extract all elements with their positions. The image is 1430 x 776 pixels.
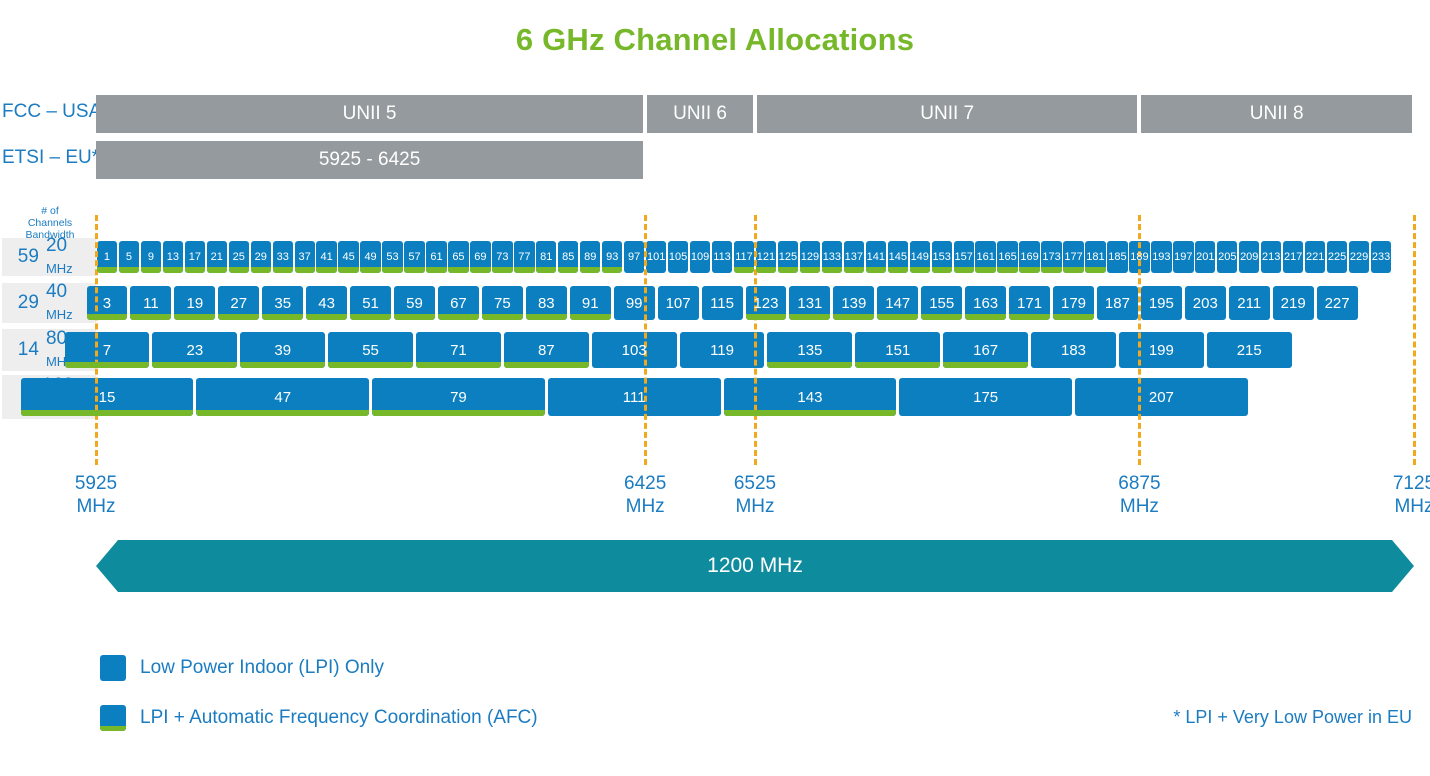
etsi-band-label: 5925 - 6425 xyxy=(319,149,420,171)
channel-block[interactable]: 51 xyxy=(350,286,391,320)
frequency-label: 6525MHz xyxy=(700,472,810,518)
channel-number: 23 xyxy=(186,343,203,358)
channel-block[interactable]: 175 xyxy=(899,378,1072,416)
bottom-rule xyxy=(0,770,1430,776)
channel-number: 129 xyxy=(801,252,819,263)
channel-count: 29 xyxy=(2,292,46,314)
channel-block[interactable]: 229 xyxy=(1349,241,1369,273)
unii-band-label: UNII 6 xyxy=(673,103,727,125)
channel-number: 167 xyxy=(973,343,998,358)
channel-block[interactable]: 35 xyxy=(262,286,303,320)
channel-block[interactable]: 79 xyxy=(372,378,545,416)
channel-number: 117 xyxy=(735,252,753,263)
channel-number: 207 xyxy=(1149,390,1174,405)
channel-number: 185 xyxy=(1108,252,1126,263)
channel-block[interactable]: 141 xyxy=(866,241,886,273)
total-span-label: 1200 MHz xyxy=(707,554,803,578)
channel-number: 161 xyxy=(976,252,994,263)
channel-block[interactable]: 33 xyxy=(273,241,293,273)
channel-block[interactable]: 107 xyxy=(658,286,699,320)
channel-block[interactable]: 29 xyxy=(251,241,271,273)
channel-block[interactable]: 167 xyxy=(943,332,1028,368)
channel-number: 169 xyxy=(1020,252,1038,263)
channel-number: 45 xyxy=(342,252,354,263)
channel-block[interactable]: 133 xyxy=(822,241,842,273)
channel-block[interactable]: 105 xyxy=(668,241,688,273)
channel-number: 209 xyxy=(1240,252,1258,263)
channel-number: 29 xyxy=(255,252,267,263)
channel-number: 37 xyxy=(299,252,311,263)
channel-number: 27 xyxy=(230,296,247,311)
channel-number: 79 xyxy=(450,390,467,405)
channel-block[interactable]: 117 xyxy=(734,241,754,273)
channel-number: 211 xyxy=(1237,296,1261,311)
col-head-line1: # of xyxy=(2,205,98,217)
channel-number: 221 xyxy=(1306,252,1324,263)
frequency-gridline xyxy=(95,215,101,465)
channel-number: 89 xyxy=(584,252,596,263)
channel-number: 57 xyxy=(408,252,420,263)
channel-number: 201 xyxy=(1196,252,1214,263)
channel-block[interactable]: 123 xyxy=(746,286,787,320)
channel-block[interactable]: 21 xyxy=(207,241,227,273)
channel-number: 19 xyxy=(186,296,203,311)
channel-number: 9 xyxy=(148,252,154,263)
channel-block[interactable]: 13 xyxy=(163,241,183,273)
legend-swatch-afc xyxy=(100,705,126,731)
channel-number: 83 xyxy=(538,296,555,311)
channel-block[interactable]: 207 xyxy=(1075,378,1248,416)
channel-number: 229 xyxy=(1350,252,1368,263)
channel-block[interactable]: 3 xyxy=(87,286,128,320)
channel-number: 171 xyxy=(1017,296,1042,311)
channel-number: 5 xyxy=(126,252,132,263)
channel-number: 147 xyxy=(885,296,910,311)
channel-block[interactable]: 37 xyxy=(295,241,315,273)
channel-number: 151 xyxy=(885,343,910,358)
channel-block[interactable]: 179 xyxy=(1053,286,1094,320)
channel-block[interactable]: 59 xyxy=(394,286,435,320)
channel-block[interactable]: 19 xyxy=(174,286,215,320)
channel-block[interactable]: 75 xyxy=(482,286,523,320)
frequency-gridline xyxy=(1138,215,1144,465)
channel-number: 107 xyxy=(666,296,691,311)
channel-number: 131 xyxy=(797,296,822,311)
channel-block[interactable]: 201 xyxy=(1195,241,1215,273)
frequency-unit: MHz xyxy=(41,495,151,518)
unii-band-label: UNII 8 xyxy=(1250,103,1304,125)
channel-number: 115 xyxy=(710,296,734,311)
unii-band-unii-5: UNII 5 xyxy=(96,95,643,133)
channel-block[interactable]: 149 xyxy=(910,241,930,273)
channel-number: 91 xyxy=(582,296,599,311)
frequency-unit: MHz xyxy=(1084,495,1194,518)
channel-block[interactable]: 183 xyxy=(1031,332,1116,368)
channel-number: 199 xyxy=(1149,343,1174,358)
channel-block[interactable]: 61 xyxy=(426,241,446,273)
channel-block[interactable]: 97 xyxy=(624,241,644,273)
page-title: 6 GHz Channel Allocations xyxy=(0,22,1430,58)
channel-number: 217 xyxy=(1284,252,1302,263)
frequency-unit: MHz xyxy=(590,495,700,518)
channel-number: 39 xyxy=(274,343,291,358)
channel-bandwidth: 20 MHz xyxy=(46,235,96,279)
legend-swatch-lpi xyxy=(100,655,126,681)
channel-number: 109 xyxy=(691,252,709,263)
channel-block[interactable]: 195 xyxy=(1141,286,1182,320)
channel-number: 67 xyxy=(450,296,467,311)
channel-number: 145 xyxy=(889,252,907,263)
channel-row-80mhz: 1480 MHz72339557187103119135151167183199… xyxy=(0,332,1430,368)
channel-number: 197 xyxy=(1174,252,1192,263)
total-span-arrow: 1200 MHz xyxy=(96,540,1414,592)
channel-block[interactable]: 169 xyxy=(1019,241,1039,273)
channel-number: 13 xyxy=(167,252,179,263)
channel-number: 35 xyxy=(274,296,291,311)
channel-number: 65 xyxy=(452,252,464,263)
frequency-gridline xyxy=(754,215,760,465)
channel-number: 81 xyxy=(540,252,552,263)
channel-block[interactable]: 9 xyxy=(141,241,161,273)
channel-block[interactable]: 233 xyxy=(1371,241,1391,273)
channel-block[interactable]: 55 xyxy=(328,332,413,368)
channel-number: 119 xyxy=(710,343,734,358)
channel-number: 165 xyxy=(998,252,1016,263)
channel-number: 155 xyxy=(929,296,954,311)
channel-block[interactable]: 103 xyxy=(592,332,677,368)
channel-block[interactable]: 27 xyxy=(218,286,259,320)
channel-block[interactable]: 73 xyxy=(492,241,512,273)
channel-number: 105 xyxy=(669,252,687,263)
channel-block[interactable]: 225 xyxy=(1327,241,1347,273)
channel-number: 33 xyxy=(277,252,289,263)
channel-block[interactable]: 187 xyxy=(1097,286,1138,320)
footnote-eu: * LPI + Very Low Power in EU xyxy=(1173,707,1412,728)
row-label-40mhz: 2940 MHz xyxy=(2,283,96,323)
channel-block[interactable]: 113 xyxy=(712,241,732,273)
channel-block[interactable]: 213 xyxy=(1261,241,1281,273)
channel-number: 87 xyxy=(538,343,555,358)
channel-block[interactable]: 119 xyxy=(680,332,765,368)
channel-block[interactable]: 25 xyxy=(229,241,249,273)
frequency-label: 6875MHz xyxy=(1084,472,1194,518)
channel-number: 213 xyxy=(1262,252,1280,263)
channel-row-20mhz: 5920 MHz15913172125293337414549535761656… xyxy=(0,241,1430,273)
channel-number: 61 xyxy=(430,252,442,263)
channel-number: 97 xyxy=(628,252,640,263)
frequency-value: 6425 xyxy=(590,472,700,495)
channel-block[interactable]: 205 xyxy=(1217,241,1237,273)
frequency-gridline xyxy=(644,215,650,465)
frequency-value: 7125 xyxy=(1359,472,1430,495)
channel-block[interactable]: 49 xyxy=(360,241,380,273)
channel-block[interactable]: 67 xyxy=(438,286,479,320)
unii-band-label: UNII 7 xyxy=(920,103,974,125)
channel-block[interactable]: 93 xyxy=(602,241,622,273)
channel-block[interactable]: 155 xyxy=(921,286,962,320)
frequency-label: 5925MHz xyxy=(41,472,151,518)
channel-number: 141 xyxy=(867,252,885,263)
frequency-unit: MHz xyxy=(1359,495,1430,518)
channel-block[interactable]: 209 xyxy=(1239,241,1259,273)
channel-block[interactable]: 91 xyxy=(570,286,611,320)
channel-block[interactable]: 53 xyxy=(382,241,402,273)
unii-band-label: UNII 5 xyxy=(343,103,397,125)
channel-block[interactable]: 143 xyxy=(724,378,897,416)
channel-number: 53 xyxy=(386,252,398,263)
channel-block[interactable]: 111 xyxy=(548,378,721,416)
channel-number: 181 xyxy=(1086,252,1104,263)
channel-number: 143 xyxy=(797,390,822,405)
channel-number: 125 xyxy=(779,252,797,263)
channel-number: 69 xyxy=(474,252,486,263)
channel-block[interactable]: 163 xyxy=(965,286,1006,320)
channel-block[interactable]: 161 xyxy=(975,241,995,273)
channel-block[interactable]: 221 xyxy=(1305,241,1325,273)
channel-block[interactable]: 153 xyxy=(932,241,952,273)
channel-number: 75 xyxy=(494,296,511,311)
channel-number: 135 xyxy=(797,343,822,358)
channel-number: 149 xyxy=(911,252,929,263)
channel-number: 173 xyxy=(1042,252,1060,263)
diagram-canvas: 6 GHz Channel Allocations FCC – USA ETSI… xyxy=(0,0,1430,776)
channel-number: 137 xyxy=(845,252,863,263)
channel-block[interactable]: 199 xyxy=(1119,332,1204,368)
channel-number: 233 xyxy=(1372,252,1390,263)
channel-number: 227 xyxy=(1325,296,1350,311)
channel-block[interactable]: 171 xyxy=(1009,286,1050,320)
frequency-label: 6425MHz xyxy=(590,472,700,518)
channel-block[interactable]: 139 xyxy=(833,286,874,320)
channel-number: 113 xyxy=(713,252,731,263)
channel-block[interactable]: 125 xyxy=(778,241,798,273)
channel-number: 93 xyxy=(606,252,618,263)
channel-block[interactable]: 173 xyxy=(1041,241,1061,273)
legend-item-lpi: Low Power Indoor (LPI) Only xyxy=(100,655,384,681)
channel-block[interactable]: 81 xyxy=(536,241,556,273)
channel-number: 73 xyxy=(496,252,508,263)
legend-label-afc: LPI + Automatic Frequency Coordination (… xyxy=(140,707,538,729)
channel-number: 99 xyxy=(626,296,643,311)
unii-band-unii-6: UNII 6 xyxy=(647,95,753,133)
channel-block[interactable]: 131 xyxy=(789,286,830,320)
channel-block[interactable]: 77 xyxy=(514,241,534,273)
row-label-20mhz: 5920 MHz xyxy=(2,238,96,276)
channel-block[interactable]: 23 xyxy=(152,332,237,368)
channel-block[interactable]: 109 xyxy=(690,241,710,273)
channel-block[interactable]: 85 xyxy=(558,241,578,273)
channel-block[interactable]: 39 xyxy=(240,332,325,368)
channel-number: 1 xyxy=(104,252,110,263)
channel-number: 21 xyxy=(211,252,223,263)
channel-block[interactable]: 147 xyxy=(877,286,918,320)
channel-block[interactable]: 197 xyxy=(1173,241,1193,273)
channel-number: 133 xyxy=(823,252,841,263)
channel-number: 3 xyxy=(103,296,111,311)
channel-count: 14 xyxy=(2,339,46,361)
channel-block[interactable]: 43 xyxy=(306,286,347,320)
channel-row-160mhz: 7160 MHz154779111143175207 xyxy=(0,378,1430,416)
channel-block[interactable]: 71 xyxy=(416,332,501,368)
channel-block[interactable]: 157 xyxy=(954,241,974,273)
frequency-unit: MHz xyxy=(700,495,810,518)
channel-number: 193 xyxy=(1152,252,1170,263)
channel-block[interactable]: 47 xyxy=(196,378,369,416)
channel-number: 59 xyxy=(406,296,423,311)
channel-block[interactable]: 41 xyxy=(316,241,336,273)
channel-count: 59 xyxy=(2,246,46,268)
channel-number: 43 xyxy=(318,296,335,311)
unii-band-unii-8: UNII 8 xyxy=(1141,95,1412,133)
channel-number: 203 xyxy=(1193,296,1218,311)
channel-number: 225 xyxy=(1328,252,1346,263)
channel-number: 85 xyxy=(562,252,574,263)
channel-block[interactable]: 57 xyxy=(404,241,424,273)
channel-number: 25 xyxy=(233,252,245,263)
channel-block[interactable]: 181 xyxy=(1085,241,1105,273)
channel-block[interactable]: 65 xyxy=(448,241,468,273)
channel-block[interactable]: 129 xyxy=(800,241,820,273)
channel-block[interactable]: 165 xyxy=(997,241,1017,273)
frequency-value: 6525 xyxy=(700,472,810,495)
legend-item-afc: LPI + Automatic Frequency Coordination (… xyxy=(100,705,538,731)
channel-number: 77 xyxy=(518,252,530,263)
channel-number: 187 xyxy=(1105,296,1130,311)
frequency-value: 6875 xyxy=(1084,472,1194,495)
channel-block[interactable]: 193 xyxy=(1151,241,1171,273)
frequency-value: 5925 xyxy=(41,472,151,495)
channel-block[interactable]: 185 xyxy=(1107,241,1127,273)
channel-number: 219 xyxy=(1281,296,1306,311)
channel-block[interactable]: 7 xyxy=(65,332,150,368)
channel-block[interactable]: 135 xyxy=(767,332,852,368)
channel-number: 17 xyxy=(189,252,201,263)
channel-number: 153 xyxy=(933,252,951,263)
channel-number: 71 xyxy=(450,343,467,358)
unii-band-unii-7: UNII 7 xyxy=(757,95,1137,133)
channel-number: 163 xyxy=(973,296,998,311)
channel-row-40mhz: 2940 MHz31119273543515967758391991071151… xyxy=(0,286,1430,320)
channel-number: 11 xyxy=(143,296,159,311)
channel-number: 41 xyxy=(321,252,333,263)
channel-number: 111 xyxy=(623,390,646,405)
channel-block[interactable]: 45 xyxy=(338,241,358,273)
etsi-band-bar: 5925 - 6425 xyxy=(96,141,643,179)
channel-block[interactable]: 203 xyxy=(1185,286,1226,320)
channel-block[interactable]: 151 xyxy=(855,332,940,368)
channel-number: 47 xyxy=(274,390,291,405)
channel-number: 183 xyxy=(1061,343,1086,358)
channel-block[interactable]: 137 xyxy=(844,241,864,273)
etsi-eu-label: ETSI – EU* xyxy=(0,147,96,169)
channel-block[interactable]: 15 xyxy=(21,378,194,416)
channel-block[interactable]: 211 xyxy=(1229,286,1270,320)
channel-block[interactable]: 115 xyxy=(702,286,743,320)
channel-number: 175 xyxy=(973,390,998,405)
channel-number: 177 xyxy=(1064,252,1082,263)
channel-block[interactable]: 227 xyxy=(1317,286,1358,320)
frequency-gridline xyxy=(1413,215,1419,465)
channel-block[interactable]: 5 xyxy=(119,241,139,273)
channel-number: 51 xyxy=(362,296,379,311)
channel-number: 55 xyxy=(362,343,379,358)
channel-block[interactable]: 83 xyxy=(526,286,567,320)
channel-block[interactable]: 17 xyxy=(185,241,205,273)
col-head-channels: Channels xyxy=(28,217,72,229)
channel-number: 7 xyxy=(103,343,111,358)
channel-block[interactable]: 87 xyxy=(504,332,589,368)
channel-block[interactable]: 145 xyxy=(888,241,908,273)
frequency-label: 7125MHz xyxy=(1359,472,1430,518)
fcc-usa-label: FCC – USA xyxy=(0,101,96,123)
channel-block[interactable]: 217 xyxy=(1283,241,1303,273)
channel-block[interactable]: 69 xyxy=(470,241,490,273)
channel-number: 103 xyxy=(622,343,647,358)
channel-block[interactable]: 177 xyxy=(1063,241,1083,273)
channel-block[interactable]: 219 xyxy=(1273,286,1314,320)
channel-block[interactable]: 215 xyxy=(1207,332,1292,368)
channel-number: 15 xyxy=(99,390,116,405)
legend-label-lpi: Low Power Indoor (LPI) Only xyxy=(140,657,384,679)
channel-number: 139 xyxy=(841,296,866,311)
channel-number: 215 xyxy=(1237,343,1262,358)
channel-block[interactable]: 11 xyxy=(130,286,171,320)
channel-number: 195 xyxy=(1149,296,1174,311)
channel-number: 157 xyxy=(955,252,973,263)
channel-number: 205 xyxy=(1218,252,1236,263)
channel-number: 49 xyxy=(364,252,376,263)
channel-block[interactable]: 89 xyxy=(580,241,600,273)
channel-number: 179 xyxy=(1061,296,1086,311)
